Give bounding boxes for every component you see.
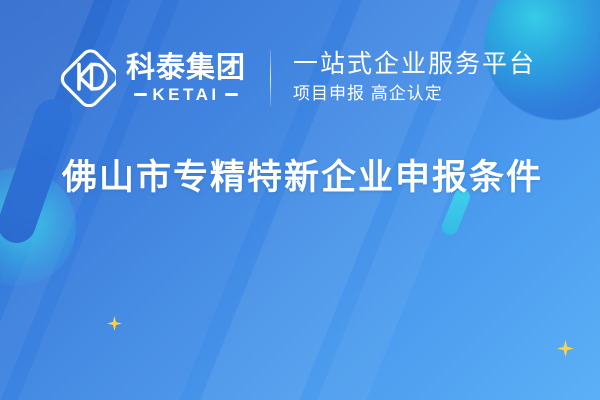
banner-header: 科泰集团 KETAI 一站式企业服务平台 项目申报 高企认定 — [58, 42, 536, 114]
promo-banner: 科泰集团 KETAI 一站式企业服务平台 项目申报 高企认定 佛山市专精特新企业… — [0, 0, 600, 400]
sparkle-icon — [557, 340, 574, 357]
sparkle-icon — [107, 316, 122, 331]
dash-decoration — [225, 93, 238, 96]
diagonal-stripe-decoration — [0, 0, 16, 400]
tagline-main: 一站式企业服务平台 — [293, 50, 536, 80]
brand-wordmark: 科泰集团 KETAI — [126, 53, 246, 103]
dash-decoration — [134, 93, 147, 96]
ketai-logo-icon — [58, 49, 116, 107]
page-title: 佛山市专精特新企业申报条件 — [62, 156, 543, 200]
brand-name-en: KETAI — [152, 86, 219, 103]
brand-name-en-row: KETAI — [126, 86, 246, 103]
vertical-divider — [270, 50, 271, 106]
tagline-block: 一站式企业服务平台 项目申报 高企认定 — [293, 50, 536, 106]
tagline-sub: 项目申报 高企认定 — [293, 83, 536, 106]
brand-name-cn: 科泰集团 — [126, 53, 246, 83]
